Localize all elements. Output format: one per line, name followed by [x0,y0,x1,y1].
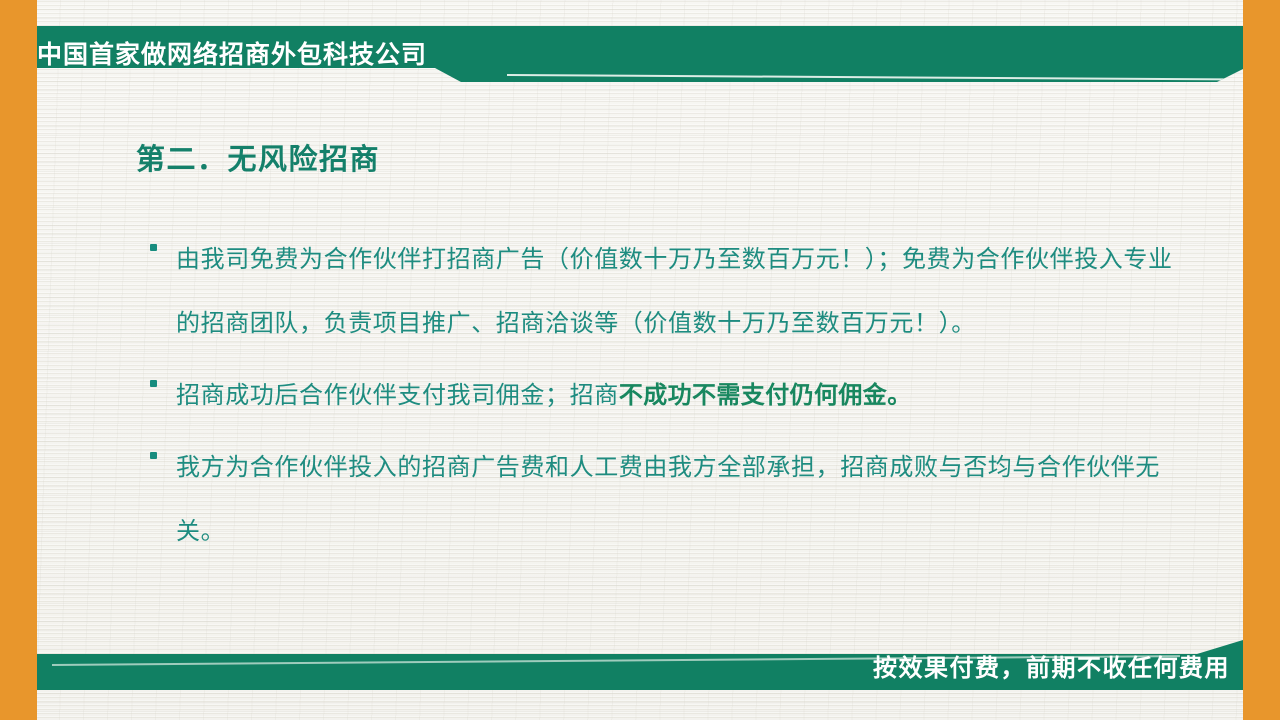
bullet-list: 由我司免费为合作伙伴打招商广告（价值数十万乃至数百万元！）；免费为合作伙伴投入专… [146,228,1176,572]
square-bullet-icon [150,244,157,251]
top-banner-accent-line [507,74,1273,81]
list-item-text: 我方为合作伙伴投入的招商广告费和人工费由我方全部承担，招商成败与否均与合作伙伴无… [176,436,1176,564]
list-item-text: 招商成功后合作伙伴支付我司佣金；招商不成功不需支付仍何佣金。 [176,364,1176,428]
company-title: 中国首家做网络招商外包科技公司 [37,34,557,72]
slide-canvas: 中国首家做网络招商外包科技公司 第二．无风险招商 由我司免费为合作伙伴打招商广告… [0,0,1280,720]
emphasis-segment: 不成功不需支付仍何佣金。 [619,382,912,409]
text-segment: 我方为合作伙伴投入的招商广告费和人工费由我方全部承担，招商成败与否均与合作伙伴无… [176,455,1160,545]
page-title: 第二．无风险招商 [136,136,380,178]
list-item-text: 由我司免费为合作伙伴打招商广告（价值数十万乃至数百万元！）；免费为合作伙伴投入专… [176,228,1176,356]
company-title-text: 中国首家做网络招商外包科技公司 [37,35,427,71]
text-segment: 由我司免费为合作伙伴打招商广告（价值数十万乃至数百万元！）；免费为合作伙伴投入专… [176,247,1173,337]
square-bullet-icon [150,452,157,459]
footer-tagline: 按效果付费，前期不收任何费用 [873,648,1230,683]
list-item: 招商成功后合作伙伴支付我司佣金；招商不成功不需支付仍何佣金。 [146,364,1176,428]
square-bullet-icon [150,380,157,387]
list-item: 由我司免费为合作伙伴打招商广告（价值数十万乃至数百万元！）；免费为合作伙伴投入专… [146,228,1176,356]
text-segment: 招商成功后合作伙伴支付我司佣金；招商 [176,383,619,409]
list-item: 我方为合作伙伴投入的招商广告费和人工费由我方全部承担，招商成败与否均与合作伙伴无… [146,436,1176,564]
